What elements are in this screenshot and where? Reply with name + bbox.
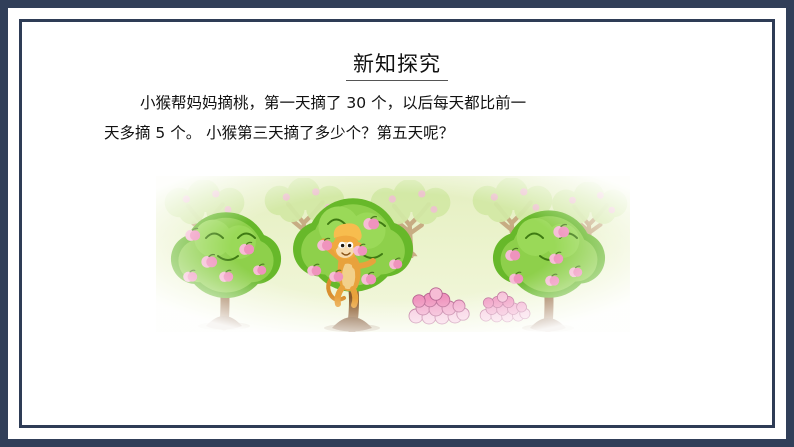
title-container: 新知探究 <box>22 50 772 81</box>
slide-content: 新知探究 小猴帮妈妈摘桃，第一天摘了 30 个，以后每天都比前一 天多摘 5 个… <box>22 22 772 425</box>
problem-text: 小猴帮妈妈摘桃，第一天摘了 30 个，以后每天都比前一 天多摘 5 个。 小猴第… <box>104 88 704 148</box>
illustration-vignette <box>156 176 630 332</box>
problem-text-line-1-text: 小猴帮妈妈摘桃，第一天摘了 30 个，以后每天都比前一 <box>140 94 526 112</box>
orchard-scene-svg <box>156 176 630 332</box>
problem-text-line-1: 小猴帮妈妈摘桃，第一天摘了 30 个，以后每天都比前一 <box>104 88 704 118</box>
page-title: 新知探究 <box>353 50 441 81</box>
problem-text-line-2: 天多摘 5 个。 小猴第三天摘了多少个？第五天呢？ <box>104 118 704 148</box>
peach-orchard-illustration <box>156 176 630 332</box>
slide: 新知探究 小猴帮妈妈摘桃，第一天摘了 30 个，以后每天都比前一 天多摘 5 个… <box>0 0 794 447</box>
